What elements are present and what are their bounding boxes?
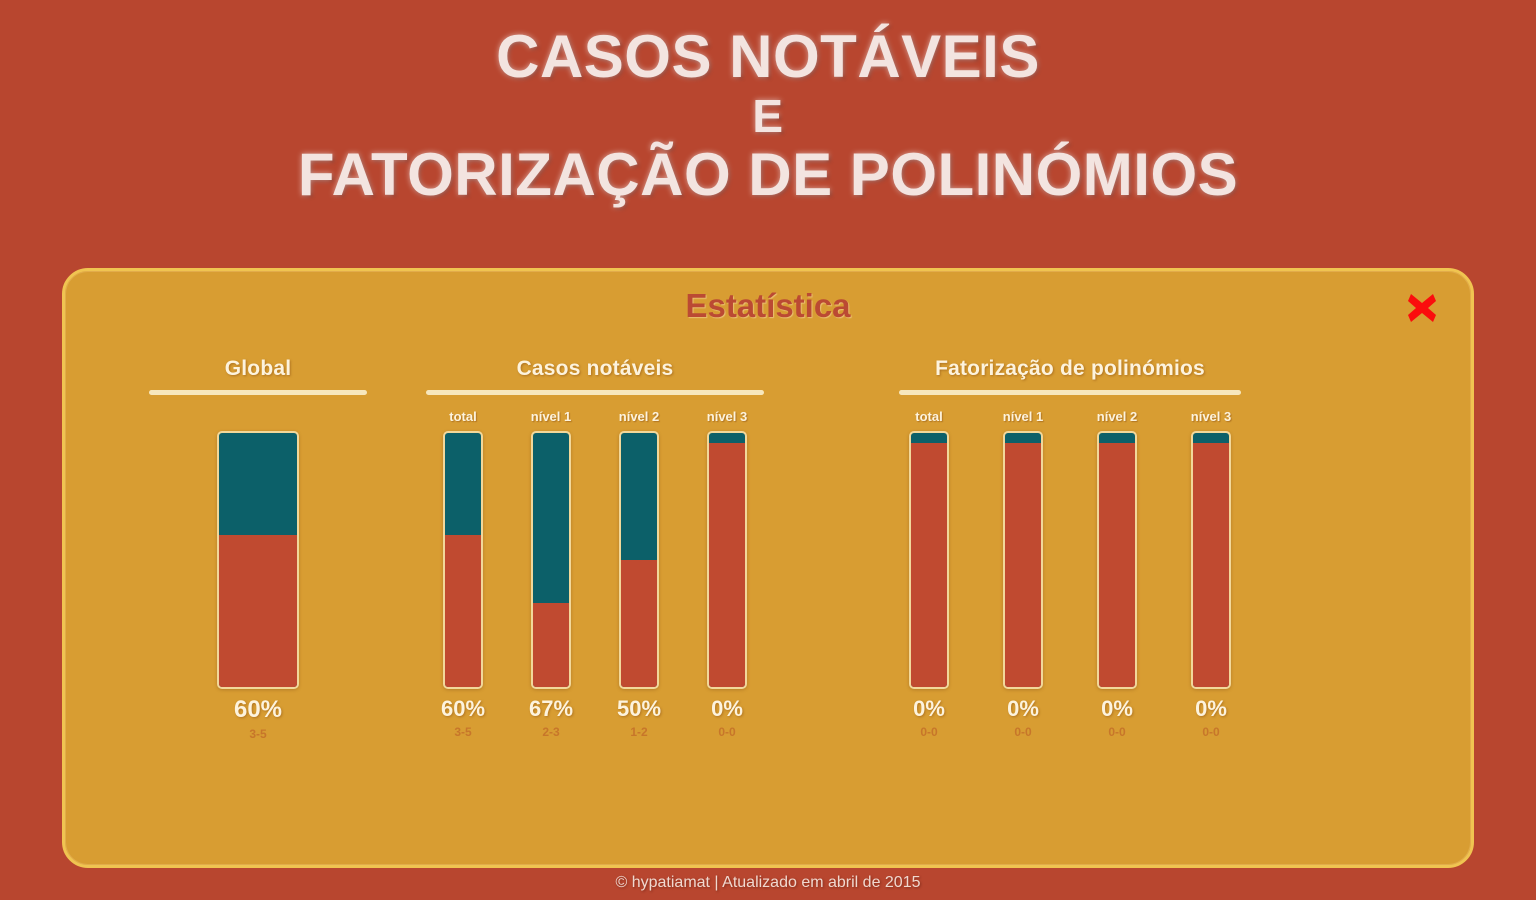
bar-sublabel: 1-2 [630,726,647,738]
bar-cell-casos-nivel-1[interactable]: nível 1 67% 2-3 [507,409,595,738]
bar-caption: total [449,409,476,425]
bar-track[interactable] [1003,431,1043,689]
bar-fill [1005,443,1041,687]
bar-cell-casos-nivel-2[interactable]: nível 2 50% 1-2 [595,409,683,738]
bar-fill [709,443,745,687]
bar-value: 50% [617,698,661,720]
statistics-panel: Estatística Global 60% 3-5 [62,268,1474,868]
bar-track[interactable] [707,431,747,689]
bar-fill [911,443,947,687]
bar-cell-fator-nivel-2[interactable]: nível 2 0% 0-0 [1070,409,1164,738]
bar-caption: nível 1 [1003,409,1043,425]
bar-sublabel: 0-0 [718,726,735,738]
group-fator-bars: total 0% 0-0 nível 1 0% 0-0 níve [855,409,1285,738]
bar-value: 60% [441,698,485,720]
group-fator-rule [899,390,1241,395]
bar-cell-fator-nivel-1[interactable]: nível 1 0% 0-0 [976,409,1070,738]
bar-sublabel: 0-0 [920,726,937,738]
bar-value: 0% [711,698,743,720]
bar-caption: nível 1 [531,409,571,425]
bar-fill [621,560,657,687]
bar-sublabel: 0-0 [1202,726,1219,738]
bar-sublabel: 3-5 [454,726,471,738]
bar-track[interactable] [443,431,483,689]
bar-track[interactable] [619,431,659,689]
group-global-header: Global [103,357,413,381]
bar-caption: nível 2 [619,409,659,425]
bar-track[interactable] [1097,431,1137,689]
bar-value: 0% [913,698,945,720]
close-x-icon[interactable] [1401,287,1443,329]
group-global: Global 60% 3-5 [103,357,413,740]
group-fator-header: Fatorização de polinómios [855,357,1285,381]
bar-value: 67% [529,698,573,720]
bar-cell-global-total[interactable]: 60% 3-5 [217,409,299,740]
title-line-3: FATORIZAÇÃO DE POLINÓMIOS [0,144,1536,205]
bar-fill [1193,443,1229,687]
panel-title: Estatística [65,287,1471,325]
title-line-2: E [0,93,1536,140]
bar-fill [219,535,297,687]
bar-sublabel: 0-0 [1108,726,1125,738]
group-casos-bars: total 60% 3-5 nível 1 67% 2-3 ní [395,409,795,738]
bar-sublabel: 2-3 [542,726,559,738]
bar-fill [445,535,481,687]
bar-track[interactable] [531,431,571,689]
bar-caption: nível 3 [1191,409,1231,425]
bar-track[interactable] [217,431,299,689]
bar-fill [1099,443,1135,687]
bar-value: 0% [1101,698,1133,720]
bar-sublabel: 3-5 [249,728,266,740]
bar-value: 0% [1007,698,1039,720]
page-title: CASOS NOTÁVEIS E FATORIZAÇÃO DE POLINÓMI… [0,26,1536,205]
bar-track[interactable] [909,431,949,689]
bar-value: 60% [234,698,282,722]
bar-caption: total [915,409,942,425]
bar-fill [533,603,569,687]
group-global-rule [149,390,367,395]
title-line-1: CASOS NOTÁVEIS [0,26,1536,87]
chart-area: Global 60% 3-5 Casos notáveis total [65,357,1471,777]
group-global-bars: 60% 3-5 [103,409,413,740]
group-casos-notaveis: Casos notáveis total 60% 3-5 nível 1 [395,357,795,738]
bar-caption: nível 2 [1097,409,1137,425]
bar-cell-casos-total[interactable]: total 60% 3-5 [419,409,507,738]
bar-cell-casos-nivel-3[interactable]: nível 3 0% 0-0 [683,409,771,738]
bar-cell-fator-nivel-3[interactable]: nível 3 0% 0-0 [1164,409,1258,738]
group-fatorizacao: Fatorização de polinómios total 0% 0-0 n… [855,357,1285,738]
bar-sublabel: 0-0 [1014,726,1031,738]
group-casos-header: Casos notáveis [395,357,795,381]
group-casos-rule [426,390,764,395]
footer-credit: © hypatiamat | Atualizado em abril de 20… [0,874,1536,892]
bar-cell-fator-total[interactable]: total 0% 0-0 [882,409,976,738]
bar-caption: nível 3 [707,409,747,425]
bar-value: 0% [1195,698,1227,720]
bar-track[interactable] [1191,431,1231,689]
